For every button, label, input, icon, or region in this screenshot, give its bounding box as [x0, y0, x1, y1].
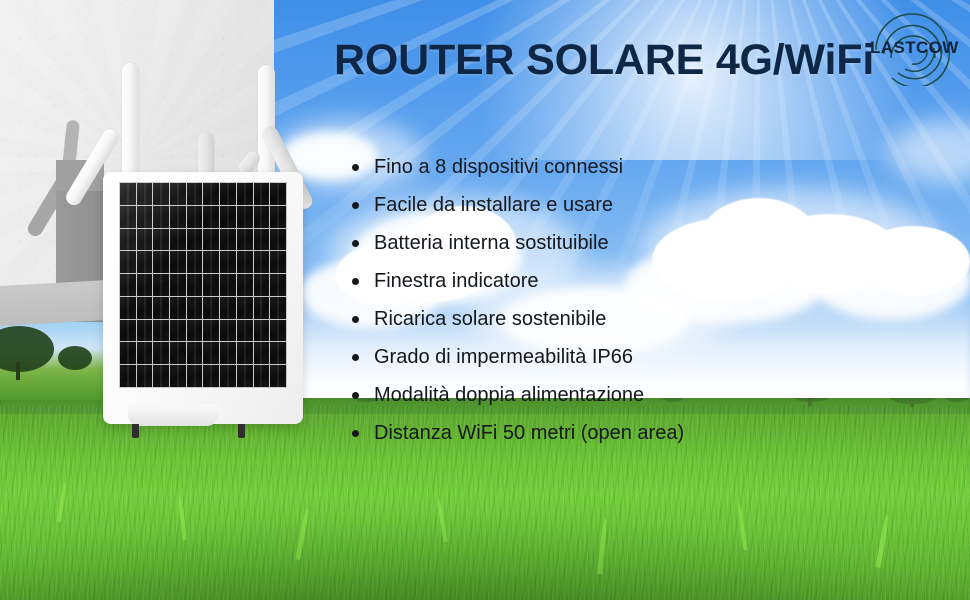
- antenna-left-vertical: [122, 63, 139, 185]
- feature-item: Modalità doppia alimentazione: [352, 383, 912, 407]
- solar-cell: [137, 229, 153, 251]
- solar-cell: [237, 342, 253, 364]
- solar-cell: [153, 320, 169, 342]
- feature-label: Fino a 8 dispositivi connessi: [374, 156, 623, 178]
- solar-cell: [170, 251, 186, 273]
- feature-item: Batteria interna sostituibile: [352, 231, 912, 255]
- solar-cell: [203, 251, 219, 273]
- solar-cell: [153, 206, 169, 228]
- solar-cell: [120, 365, 136, 387]
- feature-item: Finestra indicatore: [352, 269, 912, 293]
- solar-cell: [220, 320, 236, 342]
- solar-cell: [220, 229, 236, 251]
- solar-cell: [187, 342, 203, 364]
- solar-cell: [203, 206, 219, 228]
- solar-cell: [220, 206, 236, 228]
- brand-logo[interactable]: LASTCOW: [862, 8, 962, 86]
- solar-cell: [187, 229, 203, 251]
- solar-cell: [120, 320, 136, 342]
- solar-cell: [220, 183, 236, 205]
- solar-cell: [120, 251, 136, 273]
- solar-cell: [153, 229, 169, 251]
- bullet-icon: [352, 430, 359, 437]
- solar-cell: [187, 274, 203, 296]
- solar-cell: [137, 297, 153, 319]
- solar-cell: [254, 320, 270, 342]
- feature-label: Facile da installare e usare: [374, 194, 613, 216]
- solar-cell: [170, 206, 186, 228]
- solar-cell: [187, 297, 203, 319]
- tree-trunk: [16, 362, 20, 380]
- solar-cell: [237, 320, 253, 342]
- bullet-icon: [352, 392, 359, 399]
- feature-label: Modalità doppia alimentazione: [374, 384, 644, 406]
- solar-cell: [270, 229, 286, 251]
- solar-cell: [170, 297, 186, 319]
- bullet-icon: [352, 164, 359, 171]
- solar-cell: [237, 206, 253, 228]
- solar-cell: [254, 342, 270, 364]
- feature-label: Ricarica solare sostenibile: [374, 308, 606, 330]
- solar-cell: [120, 342, 136, 364]
- solar-cell: [203, 365, 219, 387]
- solar-cell: [270, 297, 286, 319]
- solar-cell: [153, 297, 169, 319]
- solar-cell: [254, 183, 270, 205]
- solar-cell: [254, 274, 270, 296]
- solar-cell: [237, 274, 253, 296]
- solar-cell: [137, 251, 153, 273]
- page-title: ROUTER SOLARE 4G/WiFi: [334, 36, 874, 85]
- solar-panel-router[interactable]: [103, 172, 303, 424]
- solar-cell: [237, 229, 253, 251]
- solar-cell: [187, 320, 203, 342]
- feature-label: Finestra indicatore: [374, 270, 539, 292]
- solar-cell: [270, 320, 286, 342]
- brand-name: LASTCOW: [870, 38, 959, 58]
- solar-cell: [203, 297, 219, 319]
- solar-cell: [137, 320, 153, 342]
- solar-cell: [220, 274, 236, 296]
- product-banner: ROUTER SOLARE 4G/WiFi Fino a 8 dispositi…: [0, 0, 970, 600]
- solar-cell: [237, 251, 253, 273]
- solar-cell: [170, 274, 186, 296]
- bullet-icon: [352, 316, 359, 323]
- solar-cell: [137, 342, 153, 364]
- solar-cell-array: [119, 182, 287, 388]
- solar-cell: [254, 297, 270, 319]
- bullet-icon: [352, 278, 359, 285]
- solar-cell: [137, 274, 153, 296]
- solar-cell: [220, 251, 236, 273]
- feature-item: Ricarica solare sostenibile: [352, 307, 912, 331]
- panel-foot: [128, 404, 218, 426]
- feature-label: Batteria interna sostituibile: [374, 232, 609, 254]
- panel-leg: [238, 424, 245, 438]
- solar-cell: [120, 183, 136, 205]
- feature-item: Grado di impermeabilità IP66: [352, 345, 912, 369]
- solar-cell: [254, 251, 270, 273]
- solar-cell: [153, 365, 169, 387]
- solar-cell: [203, 183, 219, 205]
- solar-cell-grid: [119, 182, 287, 388]
- solar-cell: [270, 251, 286, 273]
- solar-cell: [203, 342, 219, 364]
- solar-cell: [187, 183, 203, 205]
- solar-cell: [254, 229, 270, 251]
- solar-cell: [270, 206, 286, 228]
- bullet-icon: [352, 354, 359, 361]
- solar-cell: [170, 320, 186, 342]
- solar-cell: [254, 365, 270, 387]
- foreground-tree: [0, 326, 54, 372]
- solar-cell: [270, 274, 286, 296]
- solar-cell: [187, 206, 203, 228]
- solar-cell: [254, 206, 270, 228]
- solar-cell: [137, 365, 153, 387]
- solar-cell: [270, 342, 286, 364]
- solar-cell: [237, 183, 253, 205]
- bullet-icon: [352, 240, 359, 247]
- foreground-tree: [58, 346, 92, 370]
- solar-cell: [137, 183, 153, 205]
- solar-cell: [203, 274, 219, 296]
- antenna-right-vertical: [258, 65, 275, 185]
- feature-list: Fino a 8 dispositivi connessiFacile da i…: [352, 155, 912, 459]
- solar-cell: [220, 342, 236, 364]
- solar-cell: [153, 183, 169, 205]
- solar-cell: [203, 320, 219, 342]
- feature-label: Grado di impermeabilità IP66: [374, 346, 633, 368]
- feature-item: Distanza WiFi 50 metri (open area): [352, 421, 912, 445]
- solar-cell: [270, 365, 286, 387]
- solar-cell: [237, 365, 253, 387]
- solar-cell: [220, 297, 236, 319]
- solar-cell: [120, 229, 136, 251]
- solar-cell: [187, 251, 203, 273]
- solar-cell: [120, 297, 136, 319]
- solar-cell: [203, 229, 219, 251]
- solar-cell: [153, 342, 169, 364]
- solar-cell: [137, 206, 153, 228]
- feature-item: Facile da installare e usare: [352, 193, 912, 217]
- feature-label: Distanza WiFi 50 metri (open area): [374, 422, 684, 444]
- solar-cell: [120, 206, 136, 228]
- solar-cell: [170, 365, 186, 387]
- panel-leg: [132, 424, 139, 438]
- solar-cell: [237, 297, 253, 319]
- solar-cell: [153, 274, 169, 296]
- solar-cell: [170, 183, 186, 205]
- solar-cell: [170, 342, 186, 364]
- solar-cell: [170, 229, 186, 251]
- bullet-icon: [352, 202, 359, 209]
- solar-cell: [270, 183, 286, 205]
- solar-cell: [120, 274, 136, 296]
- solar-cell: [220, 365, 236, 387]
- solar-cell: [153, 251, 169, 273]
- solar-cell: [187, 365, 203, 387]
- feature-item: Fino a 8 dispositivi connessi: [352, 155, 912, 179]
